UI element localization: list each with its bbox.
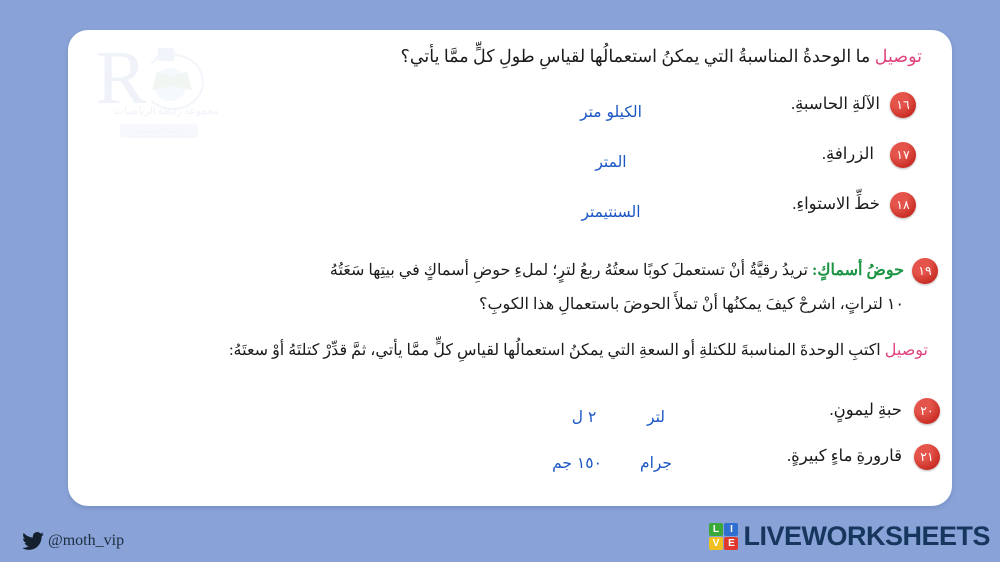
answer-input-18[interactable]: السنتيمتر	[546, 203, 676, 221]
question-prompt-16-18: توصيل ما الوحدةُ المناسبةُ التي يمكنُ اس…	[222, 46, 922, 67]
item-number-badge-19: ١٩	[912, 258, 938, 284]
question-prompt-20-21: توصيل اكتبِ الوحدةَ المناسبةَ للكتلةِ أو…	[229, 340, 928, 360]
answer-input-17[interactable]: المتر	[546, 153, 676, 171]
watermark-emblem-icon	[142, 54, 204, 110]
watermark-star-icon: ✦	[170, 48, 179, 61]
twitter-handle-text: @moth_vip	[48, 532, 124, 550]
live-letter-e: E	[724, 537, 738, 550]
watermark-badge: رابطة الرياضيات	[120, 124, 198, 138]
watermark-book-icon	[152, 70, 192, 90]
item-text-20: حبةِ ليمونٍ.	[830, 400, 902, 420]
item-text-21: قارورةِ ماءٍ كبيرةٍ.	[787, 446, 902, 466]
question-19-line-1: حوضُ أسماكٍ: تريدُ رقيَّةُ أنْ تستعملَ ك…	[330, 260, 904, 280]
answer-unit-input-20[interactable]: لتر	[618, 408, 694, 426]
instruction-tag-tawseel-2: توصيل	[885, 342, 928, 359]
question-19-line-2: ١٠ لتراتٍ، اشرحْ كيفَ يمكنُها أنْ تملأَ …	[479, 294, 904, 314]
item-text-18: خطِّ الاستواءِ.	[792, 194, 880, 214]
watermark-chip-icon	[158, 48, 174, 61]
item-number-badge-20: ٢٠	[914, 398, 940, 424]
twitter-bird-icon	[22, 532, 44, 550]
liveworksheets-wordmark: LIVEWORKSHEETS	[743, 521, 990, 552]
item-text-16: الآلةِ الحاسبةِ.	[791, 94, 880, 114]
twitter-handle-credit: @moth_vip	[22, 532, 124, 550]
item-number-badge-17: ١٧	[890, 142, 916, 168]
watermark-arabic-text: مجموعة رابطة الرياضيات	[104, 106, 229, 117]
item-text-17: الزرافةِ.	[822, 144, 874, 164]
answer-estimate-input-20[interactable]: ٢ ل	[546, 408, 622, 426]
watermark-letter-r: R	[96, 40, 147, 116]
question-19-body-line-1: تريدُ رقيَّةُ أنْ تستعملَ كوبًا سعتُهُ ر…	[330, 262, 808, 279]
live-letter-i: I	[724, 523, 738, 536]
worksheet-card: R ✦ ✦ مجموعة رابطة الرياضيات رابطة الريا…	[68, 30, 952, 506]
watermark-star-icon: ✦	[152, 52, 161, 65]
item-number-badge-16: ١٦	[890, 92, 916, 118]
item-number-badge-18: ١٨	[890, 192, 916, 218]
answer-input-16[interactable]: الكيلو متر	[546, 103, 676, 121]
question-prompt-text-2: اكتبِ الوحدةَ المناسبةَ للكتلةِ أو السعة…	[229, 342, 881, 359]
liveworksheets-logo: L I V E LIVEWORKSHEETS	[709, 521, 990, 552]
question-19-heading: حوضُ أسماكٍ:	[812, 262, 904, 279]
question-prompt-text: ما الوحدةُ المناسبةُ التي يمكنُ استعمالُ…	[401, 46, 871, 66]
instruction-tag-tawseel: توصيل	[875, 46, 922, 66]
live-letter-grid-icon: L I V E	[709, 523, 739, 551]
item-number-badge-21: ٢١	[914, 444, 940, 470]
live-letter-l: L	[709, 523, 723, 536]
answer-unit-input-21[interactable]: جرام	[618, 454, 694, 472]
live-letter-v: V	[709, 537, 723, 550]
answer-estimate-input-21[interactable]: ١٥٠ جم	[532, 454, 622, 472]
publisher-watermark-logo: R ✦ ✦ مجموعة رابطة الرياضيات رابطة الريا…	[90, 38, 240, 143]
